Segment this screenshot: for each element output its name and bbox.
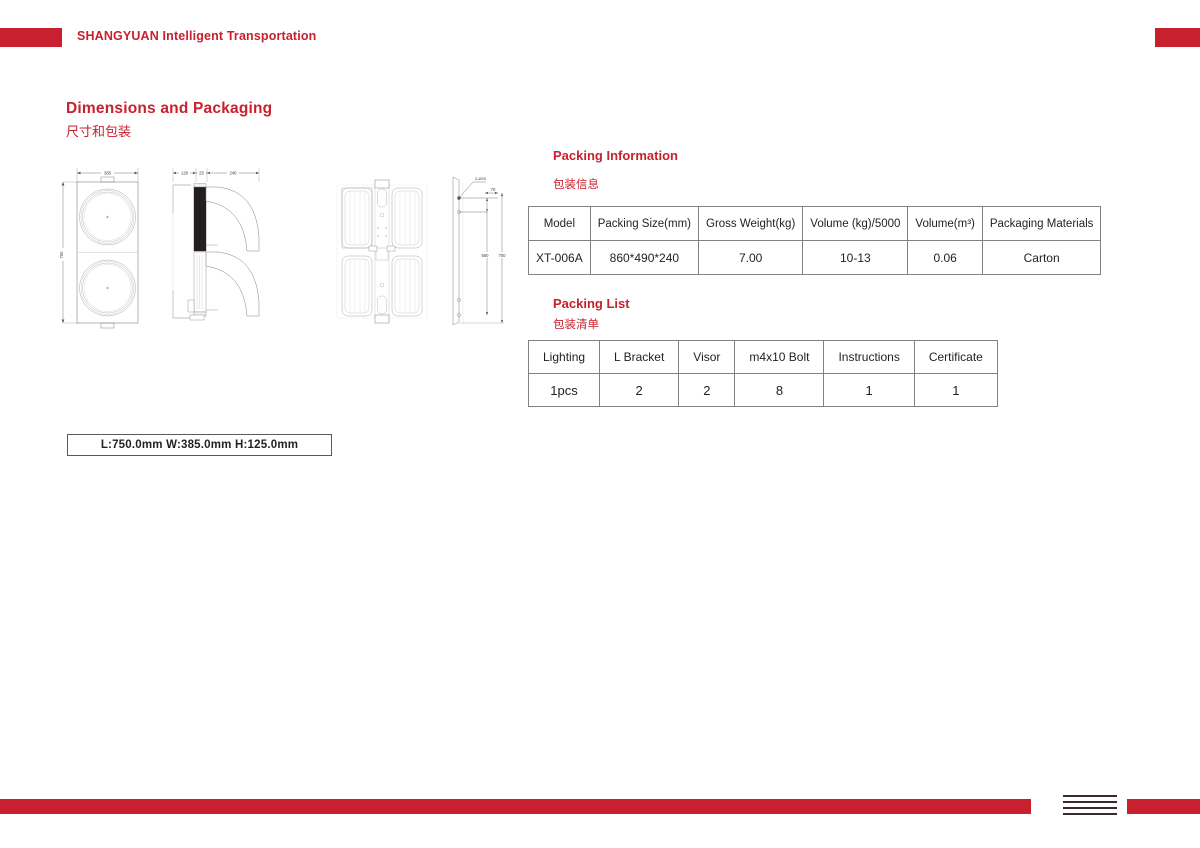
cell-model: XT-006A xyxy=(529,241,591,275)
column-header-l-bracket: L Bracket xyxy=(600,341,679,374)
column-header-bolt: m4x10 Bolt xyxy=(735,341,824,374)
bracket-dim-b-label: 560 xyxy=(482,253,490,258)
header-accent-bar-left xyxy=(0,28,62,47)
footer-stripes-decoration xyxy=(1063,795,1117,819)
cell-certificate-qty: 1 xyxy=(914,374,997,407)
packing-list-title-en: Packing List xyxy=(553,296,630,311)
side-view-dim-b-label: 25 xyxy=(199,170,204,175)
cell-lighting-qty: 1pcs xyxy=(529,374,600,407)
technical-drawings-group: 385 750 xyxy=(55,160,525,340)
packing-list-table: Lighting L Bracket Visor m4x10 Bolt Inst… xyxy=(528,340,998,407)
page-title-cn: 尺寸和包装 xyxy=(66,121,131,140)
column-header-instructions: Instructions xyxy=(824,341,914,374)
side-view-dim-c-label: 240 xyxy=(230,170,238,175)
column-header-volume-div: Volume (kg)/5000 xyxy=(803,207,908,241)
overall-dimensions-text: L:750.0mm W:385.0mm H:125.0mm xyxy=(101,439,298,451)
cell-packaging-materials: Carton xyxy=(982,241,1101,275)
header-accent-bar-right xyxy=(1155,28,1200,47)
front-view-height-label: 750 xyxy=(59,251,64,259)
packing-information-table: Model Packing Size(mm) Gross Weight(kg) … xyxy=(528,206,1101,275)
packing-information-title-cn: 包装信息 xyxy=(553,176,599,192)
cell-bolt-qty: 8 xyxy=(735,374,824,407)
overall-dimensions-box: L:750.0mm W:385.0mm H:125.0mm xyxy=(67,434,332,456)
column-header-certificate: Certificate xyxy=(914,341,997,374)
footer-accent-bar-left xyxy=(0,799,1031,814)
side-view-drawing: 128 25 240 xyxy=(173,168,259,320)
column-header-model: Model xyxy=(529,207,591,241)
column-header-volume-m3: Volume(m³) xyxy=(908,207,982,241)
cell-packing-size: 860*490*240 xyxy=(590,241,698,275)
front-view-width-label: 385 xyxy=(104,170,112,175)
cell-volume-div: 10-13 xyxy=(803,241,908,275)
column-header-lighting: Lighting xyxy=(529,341,600,374)
cell-gross-weight: 7.00 xyxy=(699,241,803,275)
footer-accent-bar-right xyxy=(1127,799,1200,814)
column-header-packing-size: Packing Size(mm) xyxy=(590,207,698,241)
column-header-packaging-materials: Packaging Materials xyxy=(982,207,1101,241)
bracket-dim-a-label: 70 xyxy=(491,187,496,192)
rear-view-drawing xyxy=(337,180,427,323)
cell-visor-qty: 2 xyxy=(679,374,735,407)
cell-volume-m3: 0.06 xyxy=(908,241,982,275)
table-header-row: Model Packing Size(mm) Gross Weight(kg) … xyxy=(529,207,1101,241)
table-row: XT-006A 860*490*240 7.00 10-13 0.06 Cart… xyxy=(529,241,1101,275)
packing-list-title-cn: 包装清单 xyxy=(553,316,599,332)
page-title-en: Dimensions and Packaging xyxy=(66,100,272,118)
column-header-visor: Visor xyxy=(679,341,735,374)
column-header-gross-weight: Gross Weight(kg) xyxy=(699,207,803,241)
bracket-view-drawing: 2-Ø20 70 560 700 xyxy=(453,176,510,325)
packing-information-title-en: Packing Information xyxy=(553,148,678,163)
cell-l-bracket-qty: 2 xyxy=(600,374,679,407)
cell-instructions-qty: 1 xyxy=(824,374,914,407)
table-row: 1pcs 2 2 8 1 1 xyxy=(529,374,998,407)
front-view-drawing: 385 750 xyxy=(59,168,138,328)
header-brand-title: SHANGYUAN Intelligent Transportation xyxy=(77,29,316,43)
table-header-row: Lighting L Bracket Visor m4x10 Bolt Inst… xyxy=(529,341,998,374)
bracket-dim-c-label: 700 xyxy=(499,253,507,258)
side-view-dim-a-label: 128 xyxy=(181,170,189,175)
bracket-hole-callout: 2-Ø20 xyxy=(475,176,487,181)
